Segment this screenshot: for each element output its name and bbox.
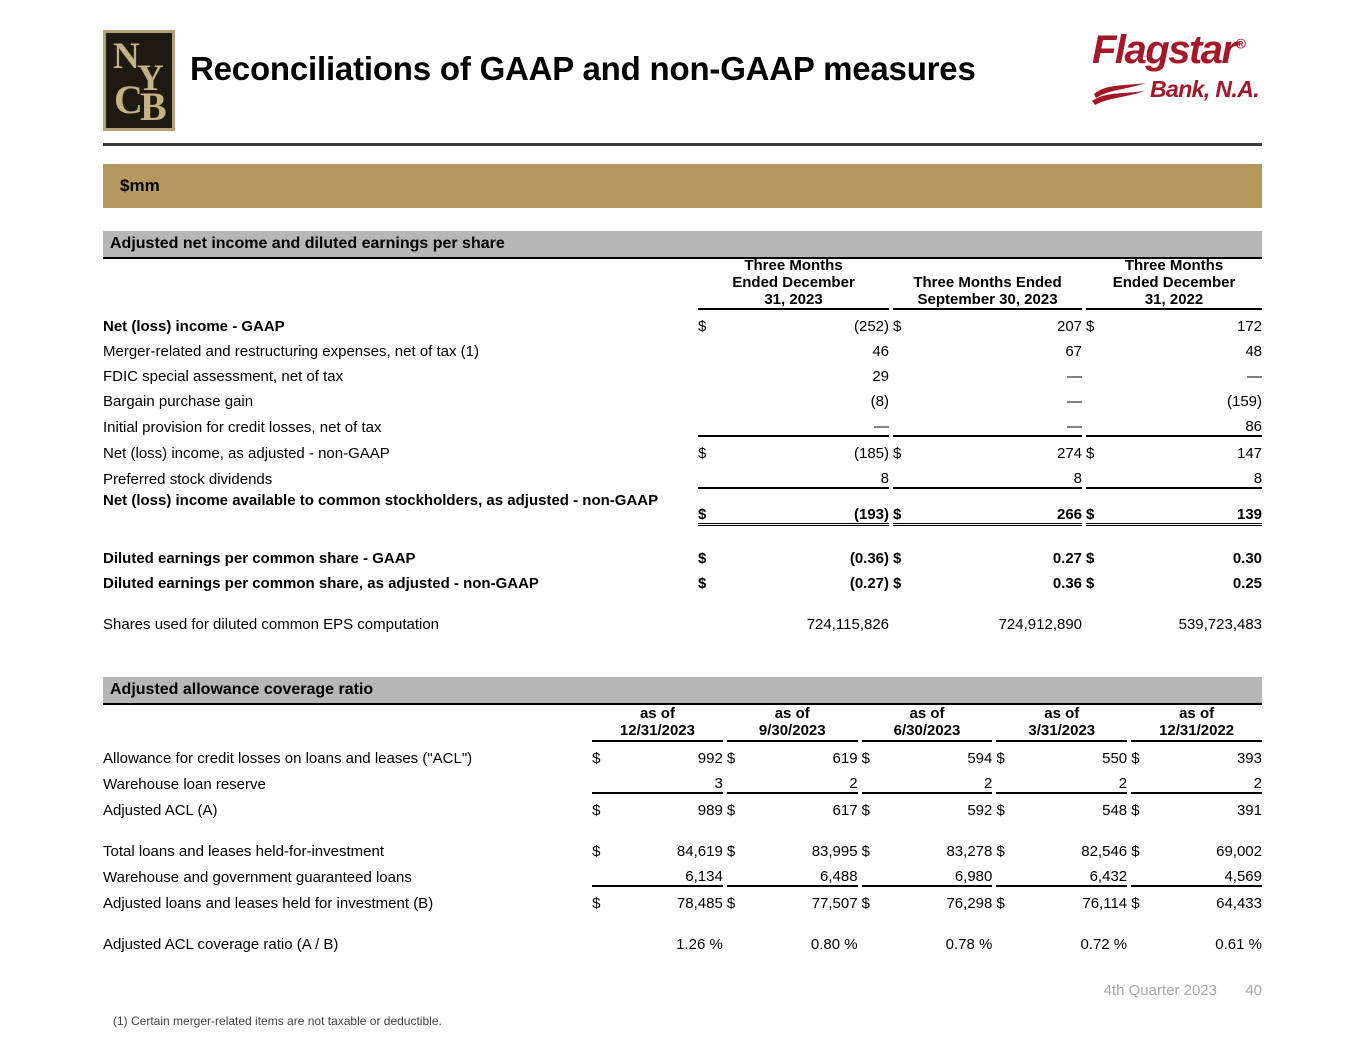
row-value: 77,507 xyxy=(751,886,857,912)
table1-header-spacer xyxy=(103,258,698,309)
row-value: 8 xyxy=(722,462,889,488)
row-value: 1.26 % xyxy=(617,928,723,953)
row-currency: $ xyxy=(893,567,917,592)
row-value: — xyxy=(722,410,889,436)
row-value: (185) xyxy=(722,436,889,462)
row-value: 207 xyxy=(917,309,1082,335)
row-currency xyxy=(698,335,722,360)
row-value: 0.72 % xyxy=(1021,928,1127,953)
units-bar-label: $mm xyxy=(120,176,160,196)
table-allowance-coverage-ratio: as of 12/31/2023 as of 9/30/2023 as of 6… xyxy=(103,706,1262,953)
table-row: Merger-related and restructuring expense… xyxy=(103,335,1262,360)
row-currency: $ xyxy=(862,835,887,860)
table-row: Bargain purchase gain (8) — (159) xyxy=(103,385,1262,410)
row-currency xyxy=(592,928,617,953)
row-value: (193) xyxy=(722,488,889,524)
row-value: 2 xyxy=(1156,767,1262,793)
spacer-cell xyxy=(103,912,1262,928)
table2-spacer-row xyxy=(103,912,1262,928)
row-label: Adjusted ACL (A) xyxy=(103,793,592,819)
row-currency xyxy=(862,928,887,953)
slide-header: N Y C B Reconciliations of GAAP and non-… xyxy=(0,0,1365,150)
row-currency: $ xyxy=(893,309,917,335)
row-currency xyxy=(592,767,617,793)
row-value: 83,278 xyxy=(886,835,992,860)
row-currency: $ xyxy=(893,436,917,462)
row-currency: $ xyxy=(592,835,617,860)
row-value: — xyxy=(917,360,1082,385)
section-header-allowance-ratio: Adjusted allowance coverage ratio xyxy=(103,677,1262,705)
row-currency: $ xyxy=(592,886,617,912)
table-adjusted-net-income: Three Months Ended December 31, 2023 Thr… xyxy=(103,258,1262,633)
spacer-cell xyxy=(103,524,1262,542)
table-row: Diluted earnings per common share, as ad… xyxy=(103,567,1262,592)
section-title-1: Adjusted net income and diluted earnings… xyxy=(110,235,505,253)
row-currency: $ xyxy=(862,886,887,912)
flagstar-wordmark: Flagstar® xyxy=(1092,28,1246,73)
nycb-logo: N Y C B xyxy=(103,30,175,131)
row-currency: $ xyxy=(996,886,1021,912)
row-value: 76,298 xyxy=(886,886,992,912)
row-label: Warehouse loan reserve xyxy=(103,767,592,793)
table-row: Preferred stock dividends 8 8 8 xyxy=(103,462,1262,488)
units-bar: $mm xyxy=(103,164,1262,208)
table-row: Allowance for credit losses on loans and… xyxy=(103,741,1262,767)
row-label: Diluted earnings per common share, as ad… xyxy=(103,567,698,592)
row-currency xyxy=(1131,928,1156,953)
row-currency xyxy=(893,462,917,488)
row-value: 724,912,890 xyxy=(917,608,1082,633)
row-value: 6,488 xyxy=(751,860,857,886)
registered-trademark-icon: ® xyxy=(1236,36,1246,52)
table-row: Total loans and leases held-for-investme… xyxy=(103,835,1262,860)
row-value: 8 xyxy=(917,462,1082,488)
table-row: Warehouse and government guaranteed loan… xyxy=(103,860,1262,886)
row-currency xyxy=(698,360,722,385)
row-currency: $ xyxy=(862,793,887,819)
spacer-cell xyxy=(103,592,1262,608)
row-label: Total loans and leases held-for-investme… xyxy=(103,835,592,860)
page-number: 40 xyxy=(1245,982,1262,999)
table-row: FDIC special assessment, net of tax 29 —… xyxy=(103,360,1262,385)
row-value: 48 xyxy=(1110,335,1262,360)
row-value: — xyxy=(917,385,1082,410)
row-currency: $ xyxy=(996,741,1021,767)
row-currency: $ xyxy=(862,741,887,767)
row-currency: $ xyxy=(1086,488,1110,524)
table2-col-header-4: as of 3/31/2023 xyxy=(996,706,1127,741)
row-currency: $ xyxy=(727,793,752,819)
table1-header-row: Three Months Ended December 31, 2023 Thr… xyxy=(103,258,1262,309)
row-currency xyxy=(893,335,917,360)
row-value: 86 xyxy=(1110,410,1262,436)
row-currency: $ xyxy=(1131,886,1156,912)
spacer-cell xyxy=(103,819,1262,835)
footnote-text: (1) Certain merger-related items are not… xyxy=(113,1014,442,1028)
row-currency: $ xyxy=(1086,542,1110,567)
row-value: 391 xyxy=(1156,793,1262,819)
row-currency: $ xyxy=(592,741,617,767)
row-value: 4,569 xyxy=(1156,860,1262,886)
row-currency xyxy=(1131,767,1156,793)
row-value: 393 xyxy=(1156,741,1262,767)
row-value: (0.27) xyxy=(722,567,889,592)
row-value: 46 xyxy=(722,335,889,360)
row-value: 82,546 xyxy=(1021,835,1127,860)
row-value: 67 xyxy=(917,335,1082,360)
row-currency: $ xyxy=(1131,793,1156,819)
row-currency: $ xyxy=(1131,835,1156,860)
row-currency xyxy=(1086,360,1110,385)
row-value: 29 xyxy=(722,360,889,385)
row-currency xyxy=(862,860,887,886)
row-value: 78,485 xyxy=(617,886,723,912)
nycb-logo-letter-b: B xyxy=(140,87,167,127)
table-row: Shares used for diluted common EPS compu… xyxy=(103,608,1262,633)
row-currency xyxy=(592,860,617,886)
flagstar-logo: Flagstar® Bank, N.A. xyxy=(1092,28,1262,110)
row-currency xyxy=(1086,608,1110,633)
row-currency: $ xyxy=(893,542,917,567)
row-label: Net (loss) income - GAAP xyxy=(103,309,698,335)
row-value: 0.25 xyxy=(1110,567,1262,592)
row-value: 147 xyxy=(1110,436,1262,462)
row-label: Adjusted ACL coverage ratio (A / B) xyxy=(103,928,592,953)
footer-quarter-label: 4th Quarter 2023 xyxy=(1104,982,1217,999)
row-value: 3 xyxy=(617,767,723,793)
table2-col-header-3: as of 6/30/2023 xyxy=(862,706,993,741)
table-row: Net (loss) income available to common st… xyxy=(103,488,1262,524)
row-value: 6,134 xyxy=(617,860,723,886)
row-value: 0.80 % xyxy=(751,928,857,953)
row-value: 592 xyxy=(886,793,992,819)
row-currency: $ xyxy=(592,793,617,819)
row-value: 0.36 xyxy=(917,567,1082,592)
row-label: Warehouse and government guaranteed loan… xyxy=(103,860,592,886)
row-value: (0.36) xyxy=(722,542,889,567)
row-value: 550 xyxy=(1021,741,1127,767)
row-currency xyxy=(996,860,1021,886)
row-currency xyxy=(893,410,917,436)
row-label: FDIC special assessment, net of tax xyxy=(103,360,698,385)
table1-col-header-2: Three Months Ended September 30, 2023 xyxy=(893,258,1082,309)
row-currency xyxy=(698,462,722,488)
row-currency xyxy=(698,385,722,410)
row-value: 0.78 % xyxy=(886,928,992,953)
row-value: 76,114 xyxy=(1021,886,1127,912)
row-currency: $ xyxy=(698,436,722,462)
row-value: 0.61 % xyxy=(1156,928,1262,953)
row-label: Merger-related and restructuring expense… xyxy=(103,335,698,360)
row-value: 619 xyxy=(751,741,857,767)
row-label: Bargain purchase gain xyxy=(103,385,698,410)
row-value: (159) xyxy=(1110,385,1262,410)
page-title: Reconciliations of GAAP and non-GAAP mea… xyxy=(190,50,976,88)
row-value: — xyxy=(1110,360,1262,385)
row-currency xyxy=(862,767,887,793)
row-label: Initial provision for credit losses, net… xyxy=(103,410,698,436)
row-currency xyxy=(1086,410,1110,436)
row-label: Net (loss) income, as adjusted - non-GAA… xyxy=(103,436,698,462)
row-value: 8 xyxy=(1110,462,1262,488)
table-row: Adjusted ACL coverage ratio (A / B) 1.26… xyxy=(103,928,1262,953)
row-currency: $ xyxy=(1131,741,1156,767)
row-value: 0.30 xyxy=(1110,542,1262,567)
row-currency xyxy=(727,928,752,953)
row-value: 84,619 xyxy=(617,835,723,860)
row-currency: $ xyxy=(698,567,722,592)
row-value: 64,433 xyxy=(1156,886,1262,912)
row-label: Net (loss) income available to common st… xyxy=(103,488,698,524)
row-label: Shares used for diluted common EPS compu… xyxy=(103,608,698,633)
row-currency xyxy=(1086,385,1110,410)
table-row: Diluted earnings per common share - GAAP… xyxy=(103,542,1262,567)
row-currency xyxy=(996,767,1021,793)
row-value: 0.27 xyxy=(917,542,1082,567)
table2-col-header-5: as of 12/31/2022 xyxy=(1131,706,1262,741)
header-divider xyxy=(103,143,1262,146)
row-value: 617 xyxy=(751,793,857,819)
nycb-logo-letter-c: C xyxy=(114,80,143,120)
table-row: Net (loss) income, as adjusted - non-GAA… xyxy=(103,436,1262,462)
row-currency: $ xyxy=(996,835,1021,860)
row-value: 172 xyxy=(1110,309,1262,335)
section-header-adjusted-net-income: Adjusted net income and diluted earnings… xyxy=(103,231,1262,259)
row-value: 724,115,826 xyxy=(722,608,889,633)
table-row: Net (loss) income - GAAP $ (252) $ 207 $… xyxy=(103,309,1262,335)
flagstar-wave-icon xyxy=(1092,80,1148,106)
row-currency xyxy=(698,608,722,633)
row-currency: $ xyxy=(698,309,722,335)
row-currency: $ xyxy=(1086,567,1110,592)
table-row: Warehouse loan reserve 3 2 2 2 2 xyxy=(103,767,1262,793)
row-currency xyxy=(996,928,1021,953)
row-value: 6,432 xyxy=(1021,860,1127,886)
row-value: — xyxy=(917,410,1082,436)
row-currency xyxy=(727,860,752,886)
nycb-logo-letter-n: N xyxy=(113,38,140,75)
row-currency: $ xyxy=(893,488,917,524)
row-currency xyxy=(698,410,722,436)
row-currency xyxy=(893,608,917,633)
table-row: Initial provision for credit losses, net… xyxy=(103,410,1262,436)
table1-col-header-3: Three Months Ended December 31, 2022 xyxy=(1086,258,1262,309)
row-value: 69,002 xyxy=(1156,835,1262,860)
row-value: 6,980 xyxy=(886,860,992,886)
row-currency xyxy=(1131,860,1156,886)
row-value: (252) xyxy=(722,309,889,335)
row-value: 139 xyxy=(1110,488,1262,524)
row-currency: $ xyxy=(727,835,752,860)
row-value: 266 xyxy=(917,488,1082,524)
row-label: Adjusted loans and leases held for inves… xyxy=(103,886,592,912)
row-value: 2 xyxy=(1021,767,1127,793)
table-row: Adjusted loans and leases held for inves… xyxy=(103,886,1262,912)
row-label: Diluted earnings per common share - GAAP xyxy=(103,542,698,567)
table2-header-spacer xyxy=(103,706,592,741)
flagstar-subtitle: Bank, N.A. xyxy=(1150,76,1259,103)
row-value: 548 xyxy=(1021,793,1127,819)
table1-spacer-row xyxy=(103,524,1262,542)
row-currency xyxy=(1086,462,1110,488)
row-value: 989 xyxy=(617,793,723,819)
row-label: Preferred stock dividends xyxy=(103,462,698,488)
row-value: 539,723,483 xyxy=(1110,608,1262,633)
row-value: 992 xyxy=(617,741,723,767)
row-currency: $ xyxy=(727,741,752,767)
row-currency xyxy=(893,360,917,385)
flagstar-wordmark-text: Flagstar xyxy=(1092,28,1236,72)
row-value: 2 xyxy=(751,767,857,793)
row-value: 594 xyxy=(886,741,992,767)
table-row: Adjusted ACL (A) $ 989 $ 617 $ 592 $ 548… xyxy=(103,793,1262,819)
row-currency: $ xyxy=(698,488,722,524)
table2-col-header-1: as of 12/31/2023 xyxy=(592,706,723,741)
row-value: 83,995 xyxy=(751,835,857,860)
row-currency: $ xyxy=(1086,309,1110,335)
row-currency xyxy=(893,385,917,410)
row-currency xyxy=(1086,335,1110,360)
table1-col-header-1: Three Months Ended December 31, 2023 xyxy=(698,258,889,309)
row-value: 2 xyxy=(886,767,992,793)
table2-spacer-row xyxy=(103,819,1262,835)
row-currency: $ xyxy=(996,793,1021,819)
table1-spacer-row xyxy=(103,592,1262,608)
row-currency: $ xyxy=(727,886,752,912)
row-currency: $ xyxy=(1086,436,1110,462)
row-currency: $ xyxy=(698,542,722,567)
table2-header-row: as of 12/31/2023 as of 9/30/2023 as of 6… xyxy=(103,706,1262,741)
row-currency xyxy=(727,767,752,793)
table2-col-header-2: as of 9/30/2023 xyxy=(727,706,858,741)
row-label: Allowance for credit losses on loans and… xyxy=(103,741,592,767)
section-title-2: Adjusted allowance coverage ratio xyxy=(110,681,373,699)
row-value: 274 xyxy=(917,436,1082,462)
row-value: (8) xyxy=(722,385,889,410)
